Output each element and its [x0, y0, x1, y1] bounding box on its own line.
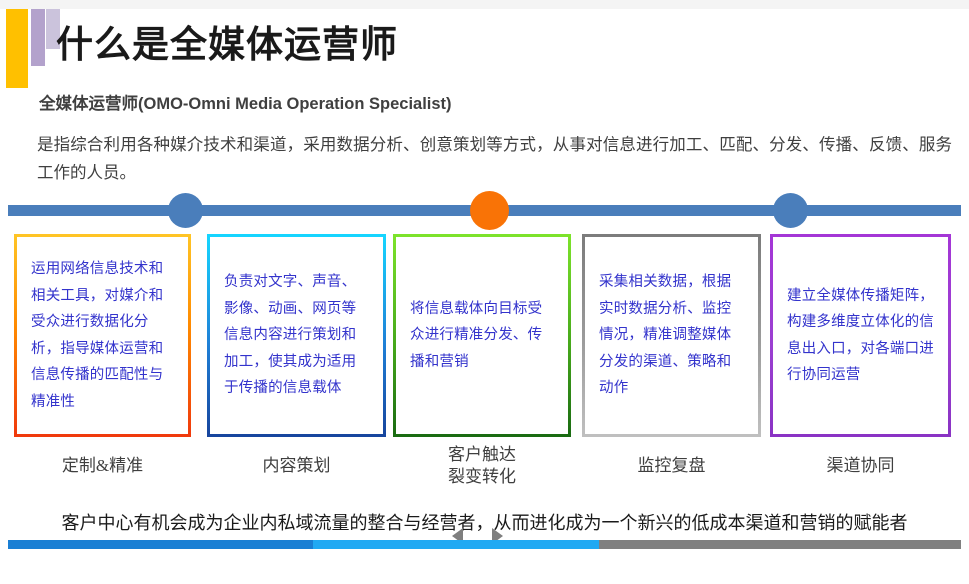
card-3-text: 将信息载体向目标受众进行精准分发、传播和营销: [410, 296, 554, 376]
card-1-text: 运用网络信息技术和相关工具，对媒介和受众进行数据化分析，指导媒体运营和信息传播的…: [31, 256, 174, 415]
card-2[interactable]: 负责对文字、声音、影像、动画、网页等信息内容进行策划和加工，使其成为适用于传播的…: [207, 234, 386, 437]
card-2-caption: 内容策划: [207, 455, 386, 477]
progress-bar[interactable]: [8, 540, 961, 549]
timeline-node-right: [773, 193, 808, 228]
progress-segment-dark-blue: [8, 540, 313, 549]
description-paragraph: 是指综合利用各种媒介技术和渠道，采用数据分析、创意策划等方式，从事对信息进行加工…: [37, 131, 952, 187]
card-2-text: 负责对文字、声音、影像、动画、网页等信息内容进行策划和加工，使其成为适用于传播的…: [224, 269, 369, 402]
accent-bar-yellow: [6, 9, 28, 88]
card-1[interactable]: 运用网络信息技术和相关工具，对媒介和受众进行数据化分析，指导媒体运营和信息传播的…: [14, 234, 191, 437]
card-5[interactable]: 建立全媒体传播矩阵，构建多维度立体化的信息出入口，对各端口进行协同运营: [770, 234, 951, 437]
subtitle-en: (OMO-Omni Media Operation Specialist): [138, 95, 452, 113]
progress-segment-gray: [599, 540, 961, 549]
accent-bar-purple-mid: [31, 9, 45, 66]
card-5-text: 建立全媒体传播矩阵，构建多维度立体化的信息出入口，对各端口进行协同运营: [787, 283, 934, 389]
progress-segment-light-blue: [313, 540, 599, 549]
card-3-caption-line2: 裂变转化: [393, 466, 571, 488]
footer-text: 客户中心有机会成为企业内私域流量的整合与经营者，从而进化成为一个新兴的低成本渠道…: [0, 509, 969, 535]
card-1-caption: 定制&精准: [14, 455, 191, 477]
page-title: 什么是全媒体运营师: [56, 14, 398, 68]
timeline-node-center: [470, 191, 509, 230]
card-3-caption-line1: 客户触达: [393, 444, 571, 466]
subtitle: 全媒体运营师(OMO-Omni Media Operation Speciali…: [39, 90, 452, 114]
timeline-node-left: [168, 193, 203, 228]
card-3[interactable]: 将信息载体向目标受众进行精准分发、传播和营销: [393, 234, 571, 437]
subtitle-cn: 全媒体运营师: [39, 94, 138, 113]
card-4-text: 采集相关数据，根据实时数据分析、监控情况，精准调整媒体分发的渠道、策略和动作: [599, 269, 744, 402]
card-3-caption: 客户触达 裂变转化: [393, 444, 571, 488]
card-4-caption: 监控复盘: [582, 455, 761, 477]
card-4[interactable]: 采集相关数据，根据实时数据分析、监控情况，精准调整媒体分发的渠道、策略和动作: [582, 234, 761, 437]
cards-row: 运用网络信息技术和相关工具，对媒介和受众进行数据化分析，指导媒体运营和信息传播的…: [0, 234, 969, 439]
top-band: [0, 0, 969, 9]
card-5-caption: 渠道协同: [770, 455, 951, 477]
